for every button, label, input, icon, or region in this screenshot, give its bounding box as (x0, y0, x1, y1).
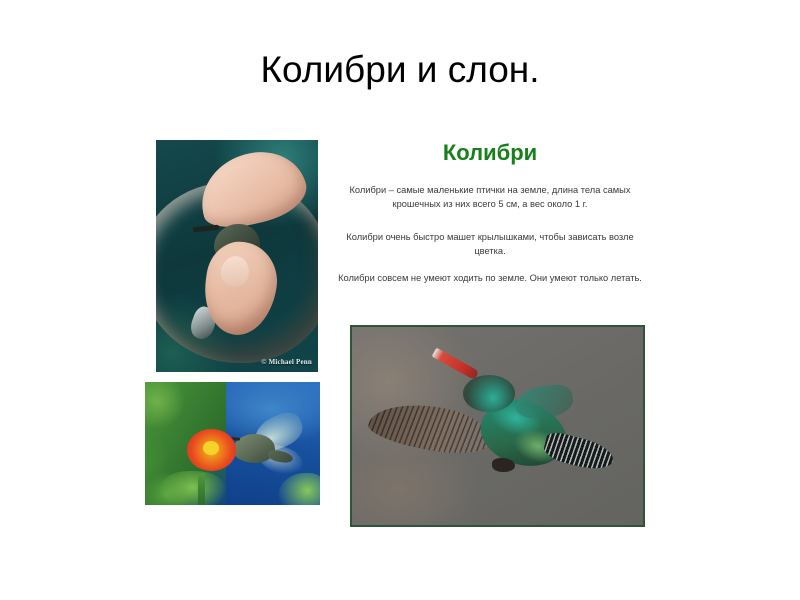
photo-watermark: © Michael Penn (261, 358, 312, 366)
hummingbird-head-shape (463, 375, 515, 413)
plant-stem-shape (198, 473, 205, 505)
hummingbird-feet-shape (492, 458, 515, 472)
foliage-blur-shape (159, 471, 226, 505)
section-heading: Колибри (328, 140, 652, 166)
flower-center-shape (203, 441, 219, 455)
hovering-hummingbird-photo (350, 325, 645, 527)
text-column: Колибри Колибри – самые маленькие птички… (328, 140, 652, 286)
paragraph-1: Колибри – самые маленькие птички на земл… (328, 184, 652, 211)
hummingbird-at-flower-photo (145, 382, 320, 505)
paragraph-2: Колибри очень быстро машет крылышками, ч… (328, 231, 652, 258)
page-title: Колибри и слон. (0, 48, 800, 92)
hummingbird-in-hand-photo: © Michael Penn (156, 140, 318, 372)
paragraph-3: Колибри совсем не умеют ходить по земле.… (328, 272, 652, 286)
